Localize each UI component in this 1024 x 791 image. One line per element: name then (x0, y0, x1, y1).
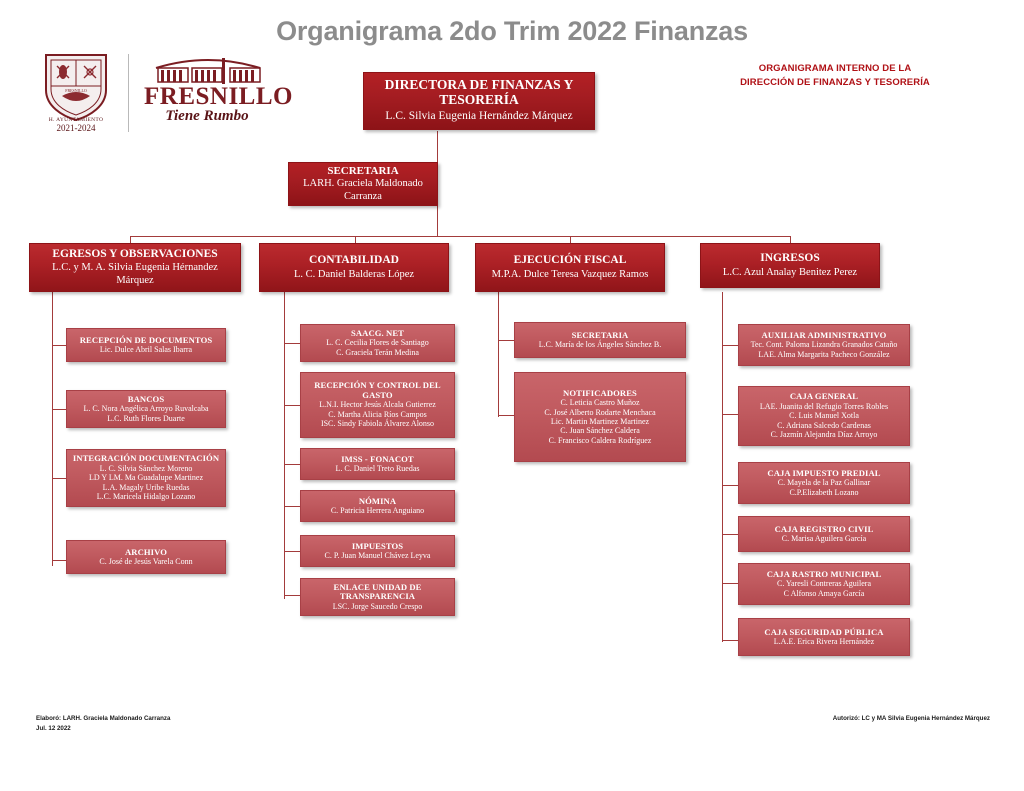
connector-col3-branch-2 (498, 415, 514, 416)
node-director[interactable]: DIRECTORA DE FINANZAS Y TESORERÍA L.C. S… (363, 72, 595, 130)
node-dept-contabilidad[interactable]: CONTABILIDAD L. C. Daniel Balderas López (259, 243, 449, 292)
node-integracion-documentacion-name-2: L.A. Magaly Uribe Ruedas (103, 483, 190, 492)
node-integracion-documentacion-name-0: L. C. Silvia Sánchez Moreno (100, 464, 193, 473)
node-notificadores-name-1: C. José Alberto Rodarte Menchaca (544, 408, 655, 417)
footer-left: Elaboró: LARH. Graciela Maldonado Carran… (36, 714, 170, 733)
node-secretaria-direccion-title: SECRETARIA (327, 165, 398, 177)
node-caja-rastro-municipal-name-1: C Alfonso Amaya García (784, 589, 865, 598)
node-recepcion-control-gasto[interactable]: RECEPCIÓN Y CONTROL DEL GASTO L.N.I. Hec… (300, 372, 455, 438)
connector-col1-branch-4 (52, 560, 66, 561)
footer-date: Jul. 12 2022 (36, 724, 170, 734)
node-dept-ingresos-name-0: L.C. Azul Analay Benitez Perez (723, 267, 857, 279)
node-caja-rastro-municipal-name-0: C. Yaresli Contreras Aguilera (777, 579, 871, 588)
connector-col4-branch-1 (722, 345, 738, 346)
node-caja-registro-civil-title: CAJA REGISTRO CIVIL (775, 525, 874, 534)
node-integracion-documentacion[interactable]: INTEGRACIÓN DOCUMENTACIÓN L. C. Silvia S… (66, 449, 226, 507)
connector-col1-spine (52, 292, 53, 566)
node-caja-general-name-2: C. Adriana Salcedo Cardenas (777, 421, 871, 430)
footer-autorizo: Autorizó: LC y MA Silvia Eugenia Hernánd… (700, 714, 990, 724)
connector-col3-spine (498, 292, 499, 417)
node-notificadores-name-3: C. Juan Sánchez Caldera (560, 426, 640, 435)
right-heading: ORGANIGRAMA INTERNO DE LA DIRECCIÓN DE F… (690, 62, 980, 91)
node-enlace-transparencia-title: ENLACE UNIDAD DE TRANSPARENCIA (305, 583, 450, 602)
node-dept-ingresos-title: INGRESOS (760, 252, 819, 265)
node-dept-ejecucion-fiscal[interactable]: EJECUCIÓN FISCAL M.P.A. Dulce Teresa Vaz… (475, 243, 665, 292)
node-secretaria-ejecucion-title: SECRETARIA (572, 331, 629, 340)
fresnillo-logo: FRESNILLO Tiene Rumbo (144, 56, 270, 140)
node-caja-general[interactable]: CAJA GENERAL LAE. Juanita del Refugio To… (738, 386, 910, 446)
node-secretaria-ejecucion-name-0: L.C. María de los Ángeles Sánchez B. (539, 340, 661, 349)
node-bancos-name-1: L.C. Ruth Flores Duarte (107, 414, 185, 423)
node-dept-ingresos[interactable]: INGRESOS L.C. Azul Analay Benitez Perez (700, 243, 880, 288)
node-caja-impuesto-predial-title: CAJA IMPUESTO PREDIAL (767, 469, 880, 478)
node-bancos-title: BANCOS (128, 395, 164, 404)
organigrama-page: Organigrama 2do Trim 2022 Finanzas FRESN… (0, 0, 1024, 791)
node-dept-egresos-name-0: L.C. y M. A. Silvia Eugenia Hérnandez Má… (34, 262, 236, 287)
node-caja-general-name-0: LAE. Juanita del Refugio Torres Robles (760, 402, 888, 411)
node-bancos-name-0: L. C. Nora Angélica Arroyo Ruvalcaba (83, 404, 208, 413)
node-recepcion-control-gasto-title: RECEPCIÓN Y CONTROL DEL GASTO (305, 381, 450, 400)
right-heading-line2: DIRECCIÓN DE FINANZAS Y TESORERÍA (690, 76, 980, 90)
node-dept-contabilidad-title: CONTABILIDAD (309, 254, 399, 267)
node-recepcion-control-gasto-name-0: L.N.I. Hector Jesús Alcala Gutierrez (319, 400, 436, 409)
node-bancos[interactable]: BANCOS L. C. Nora Angélica Arroyo Ruvalc… (66, 390, 226, 428)
node-caja-registro-civil[interactable]: CAJA REGISTRO CIVIL C. Marisa Aguilera G… (738, 516, 910, 552)
logo-block: FRESNILLO H. AYUNTAMIENTO 2021-2024 (36, 52, 268, 144)
connector-col4-branch-6 (722, 640, 738, 641)
fresnillo-tagline: Tiene Rumbo (144, 108, 270, 125)
node-recepcion-documentos-name-0: Lic. Dulce Abril Salas Ibarra (100, 345, 192, 354)
connector-col2-branch-3 (284, 464, 300, 465)
node-archivo[interactable]: ARCHIVO C. José de Jesús Varela Conn (66, 540, 226, 574)
node-recepcion-documentos-title: RECEPCIÓN DE DOCUMENTOS (80, 336, 213, 345)
crest-caption-line2: 2021-2024 (36, 124, 116, 133)
node-caja-general-title: CAJA GENERAL (790, 392, 858, 401)
connector-col1-branch-2 (52, 409, 66, 410)
node-secretaria-direccion-name-0: LARH. Graciela Maldonado Carranza (293, 178, 433, 203)
connector-col3-branch-1 (498, 340, 514, 341)
connector-col2-branch-2 (284, 405, 300, 406)
node-dept-egresos[interactable]: EGRESOS Y OBSERVACIONES L.C. y M. A. Sil… (29, 243, 241, 292)
connector-col4-branch-3 (722, 485, 738, 486)
node-archivo-name-0: C. José de Jesús Varela Conn (99, 557, 192, 566)
node-impuestos[interactable]: IMPUESTOS C. P. Juan Manuel Chávez Leyva (300, 535, 455, 567)
node-impuestos-name-0: C. P. Juan Manuel Chávez Leyva (325, 551, 431, 560)
connector-col4-branch-5 (722, 583, 738, 584)
node-dept-contabilidad-name-0: L. C. Daniel Balderas López (294, 269, 414, 281)
connector-col4-branch-2 (722, 414, 738, 415)
connector-col2-branch-4 (284, 506, 300, 507)
node-secretaria-ejecucion[interactable]: SECRETARIA L.C. María de los Ángeles Sán… (514, 322, 686, 358)
connector-dept-bus (130, 236, 790, 237)
node-auxiliar-administrativo-name-1: LAE. Alma Margarita Pacheco González (758, 350, 889, 359)
fresnillo-wordmark: FRESNILLO (144, 84, 270, 109)
node-caja-impuesto-predial[interactable]: CAJA IMPUESTO PREDIAL C. Mayela de la Pa… (738, 462, 910, 504)
node-caja-general-name-3: C. Jazmín Alejandra Díaz Arroyo (771, 430, 878, 439)
node-auxiliar-administrativo-name-0: Tec. Cont. Paloma Lizandra Granados Cata… (751, 340, 898, 349)
node-imss-fonacot-title: IMSS - FONACOT (341, 455, 414, 464)
node-integracion-documentacion-title: INTEGRACIÓN DOCUMENTACIÓN (73, 454, 219, 463)
node-caja-impuesto-predial-name-0: C. Mayela de la Paz Gallinar (778, 478, 870, 487)
node-caja-registro-civil-name-0: C. Marisa Aguilera García (782, 534, 866, 543)
node-integracion-documentacion-name-1: LD Y LM. Ma Guadalupe Martinez (89, 473, 203, 482)
node-caja-rastro-municipal-title: CAJA RASTRO MUNICIPAL (767, 570, 882, 579)
node-imss-fonacot-name-0: L. C. Daniel Treto Ruedas (336, 464, 420, 473)
node-dept-egresos-title: EGRESOS Y OBSERVACIONES (52, 248, 217, 261)
node-integracion-documentacion-name-3: L.C. Maricela Hidalgo Lozano (97, 492, 195, 501)
node-notificadores-name-2: Lic. Martin Martinez Martinez (551, 417, 649, 426)
connector-col2-branch-5 (284, 551, 300, 552)
page-title: Organigrama 2do Trim 2022 Finanzas (0, 16, 1024, 47)
node-recepcion-documentos[interactable]: RECEPCIÓN DE DOCUMENTOS Lic. Dulce Abril… (66, 328, 226, 362)
node-notificadores[interactable]: NOTIFICADORES C. Leticia Castro Muñoz C.… (514, 372, 686, 462)
footer-elaboro: Elaboró: LARH. Graciela Maldonado Carran… (36, 714, 170, 724)
node-nomina-title: NÓMINA (359, 497, 396, 506)
node-nomina[interactable]: NÓMINA C. Patricia Herrera Anguiano (300, 490, 455, 522)
node-enlace-transparencia-name-0: LSC. Jorge Saucedo Crespo (333, 602, 423, 611)
node-notificadores-name-4: C. Francisco Caldera Rodríguez (549, 436, 652, 445)
connector-col1-branch-1 (52, 345, 66, 346)
footer-right: Autorizó: LC y MA Silvia Eugenia Hernánd… (700, 714, 990, 724)
node-caja-impuesto-predial-name-1: C.P.Elizabeth Lozano (789, 488, 858, 497)
connector-col4-branch-4 (722, 534, 738, 535)
crest-caption: H. AYUNTAMIENTO 2021-2024 (36, 118, 116, 133)
connector-col2-branch-1 (284, 343, 300, 344)
node-dept-ejecucion-fiscal-name-0: M.P.A. Dulce Teresa Vazquez Ramos (492, 269, 649, 281)
node-auxiliar-administrativo-title: AUXILIAR ADMINISTRATIVO (762, 331, 887, 340)
connector-col2-spine (284, 292, 285, 599)
node-director-name-0: L.C. Silvia Eugenia Hernández Márquez (385, 110, 572, 124)
node-recepcion-control-gasto-name-1: C. Martha Alicia Ríos Campos (328, 410, 426, 419)
node-imss-fonacot[interactable]: IMSS - FONACOT L. C. Daniel Treto Ruedas (300, 448, 455, 480)
node-caja-seguridad-publica-title: CAJA SEGURIDAD PÚBLICA (764, 628, 883, 637)
connector-col1-branch-3 (52, 478, 66, 479)
node-caja-seguridad-publica[interactable]: CAJA SEGURIDAD PÚBLICA L.A.E. Erica Rive… (738, 618, 910, 656)
node-auxiliar-administrativo[interactable]: AUXILIAR ADMINISTRATIVO Tec. Cont. Palom… (738, 324, 910, 366)
node-notificadores-name-0: C. Leticia Castro Muñoz (560, 398, 639, 407)
node-saacg-net-name-0: L. C. Cecilia Flores de Santiago (326, 338, 428, 347)
node-saacg-net-title: SAACG. NET (351, 329, 404, 338)
node-recepcion-control-gasto-name-2: ISC. Sindy Fabiola Álvarez Alonso (321, 419, 434, 428)
node-enlace-transparencia[interactable]: ENLACE UNIDAD DE TRANSPARENCIA LSC. Jorg… (300, 578, 455, 616)
node-caja-rastro-municipal[interactable]: CAJA RASTRO MUNICIPAL C. Yaresli Contrer… (738, 563, 910, 605)
svg-text:FRESNILLO: FRESNILLO (65, 88, 87, 93)
node-saacg-net[interactable]: SAACG. NET L. C. Cecilia Flores de Santi… (300, 324, 455, 362)
node-director-title: DIRECTORA DE FINANZAS Y TESORERÍA (368, 78, 590, 108)
logo-divider (128, 54, 129, 132)
node-archivo-title: ARCHIVO (125, 548, 167, 557)
node-caja-seguridad-publica-name-0: L.A.E. Erica Rivera Hernández (774, 637, 874, 646)
node-dept-ejecucion-fiscal-title: EJECUCIÓN FISCAL (514, 254, 627, 267)
node-notificadores-title: NOTIFICADORES (563, 389, 637, 398)
node-nomina-name-0: C. Patricia Herrera Anguiano (331, 506, 424, 515)
right-heading-line1: ORGANIGRAMA INTERNO DE LA (690, 62, 980, 76)
node-caja-general-name-1: C. Luis Manuel Xotla (789, 411, 859, 420)
node-impuestos-title: IMPUESTOS (352, 542, 403, 551)
node-secretaria-direccion[interactable]: SECRETARIA LARH. Graciela Maldonado Carr… (288, 162, 438, 206)
connector-col2-branch-6 (284, 595, 300, 596)
node-saacg-net-name-1: C. Graciela Terán Medina (336, 348, 419, 357)
building-icon (148, 56, 268, 86)
